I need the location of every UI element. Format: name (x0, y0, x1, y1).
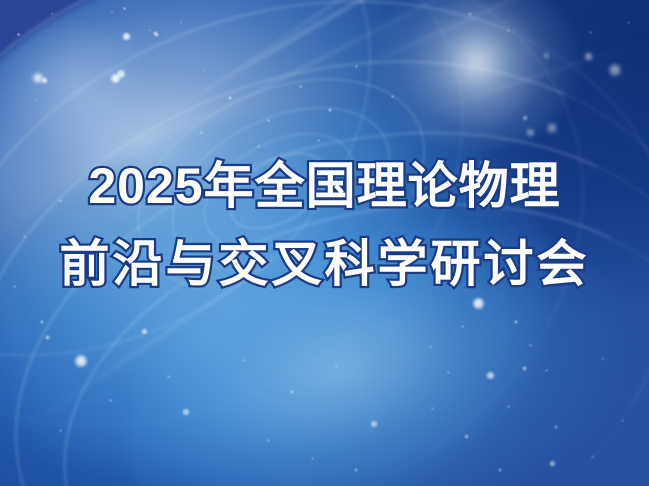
banner-title-line-2: 前沿与交叉科学研讨会 (0, 230, 649, 298)
bokeh-dot (627, 21, 630, 24)
bokeh-dot (608, 63, 622, 77)
banner-title-line-1: 2025年全国理论物理 (0, 152, 649, 220)
conference-banner: 2025年全国理论物理 前沿与交叉科学研讨会 (0, 0, 649, 486)
banner-title: 2025年全国理论物理 前沿与交叉科学研讨会 (0, 152, 649, 298)
secondary-glow (0, 20, 150, 150)
bokeh-dot (589, 31, 592, 34)
